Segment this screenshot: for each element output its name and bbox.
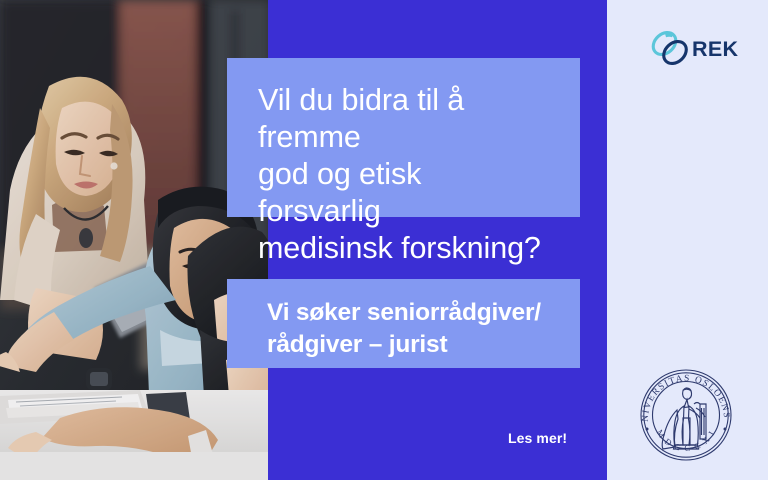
uio-seal-logo[interactable]: UNIVERSITAS OSLOENSIS M D C C C X I xyxy=(634,363,738,467)
rek-logo[interactable]: REK xyxy=(646,26,738,70)
rek-interlocking-rings-icon xyxy=(649,28,691,68)
subheadline-text: Vi søker seniorrådgiver/ rådgiver – juri… xyxy=(267,297,560,361)
rek-logo-svg: REK xyxy=(646,26,738,70)
uio-seal-svg: UNIVERSITAS OSLOENSIS M D C C C X I xyxy=(634,363,738,467)
headline-box: Vil du bidra til å fremme god og etisk f… xyxy=(227,58,580,217)
seal-dot-right xyxy=(724,428,727,431)
read-more-link[interactable]: Les mer! xyxy=(508,430,567,446)
headline-text: Vil du bidra til å fremme god og etisk f… xyxy=(258,82,552,267)
recruitment-banner: Vil du bidra til å fremme god og etisk f… xyxy=(0,0,768,480)
rek-wordmark: REK xyxy=(692,37,738,61)
subheadline-box: Vi søker seniorrådgiver/ rådgiver – juri… xyxy=(227,279,580,368)
seal-dot-left xyxy=(646,428,649,431)
